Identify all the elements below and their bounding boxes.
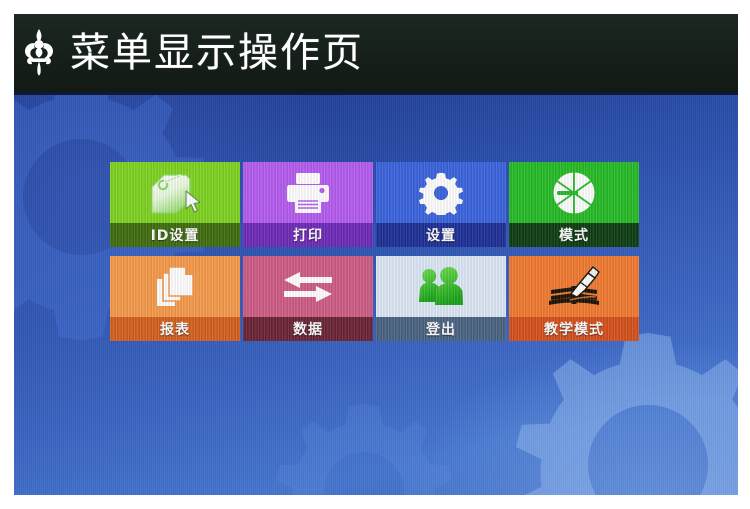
menu-tile-label: 报表 — [110, 317, 240, 341]
menu-tile-teaching-mode[interactable]: 教学模式 — [509, 256, 639, 341]
page-header: 菜单显示操作页 — [14, 14, 738, 92]
menu-tile-label: ID设置 — [110, 223, 240, 247]
gear-icon — [376, 162, 506, 223]
menu-tile-id-setting[interactable]: ID设置 — [110, 162, 240, 247]
exchange-arrows-icon — [243, 256, 373, 317]
menu-tile-report[interactable]: 报表 — [110, 256, 240, 341]
menu-tile-logout[interactable]: 登出 — [376, 256, 506, 341]
printer-icon — [243, 162, 373, 223]
gear-icon — [498, 315, 738, 495]
menu-tile-grid: ID设置 打印 — [110, 162, 640, 341]
menu-tile-label: 模式 — [509, 223, 639, 247]
page-title: 菜单显示操作页 — [70, 30, 364, 76]
menu-screen: ID设置 打印 — [14, 92, 738, 495]
device-screen-photo: 菜单显示操作页 — [14, 14, 738, 495]
two-users-icon — [376, 256, 506, 317]
menu-tile-label: 打印 — [243, 223, 373, 247]
price-tag-cursor-icon — [110, 162, 240, 223]
documents-icon — [110, 256, 240, 317]
menu-tile-label: 数据 — [243, 317, 373, 341]
menu-tile-data[interactable]: 数据 — [243, 256, 373, 341]
book-pen-icon — [509, 256, 639, 317]
gear-icon — [264, 392, 464, 495]
menu-tile-label: 登出 — [376, 317, 506, 341]
menu-tile-label: 教学模式 — [509, 317, 639, 341]
menu-tile-label: 设置 — [376, 223, 506, 247]
menu-tile-print[interactable]: 打印 — [243, 162, 373, 247]
fleur-de-lis-icon — [22, 28, 56, 76]
pie-wheel-icon — [509, 162, 639, 223]
menu-tile-mode[interactable]: 模式 — [509, 162, 639, 247]
menu-tile-setting[interactable]: 设置 — [376, 162, 506, 247]
